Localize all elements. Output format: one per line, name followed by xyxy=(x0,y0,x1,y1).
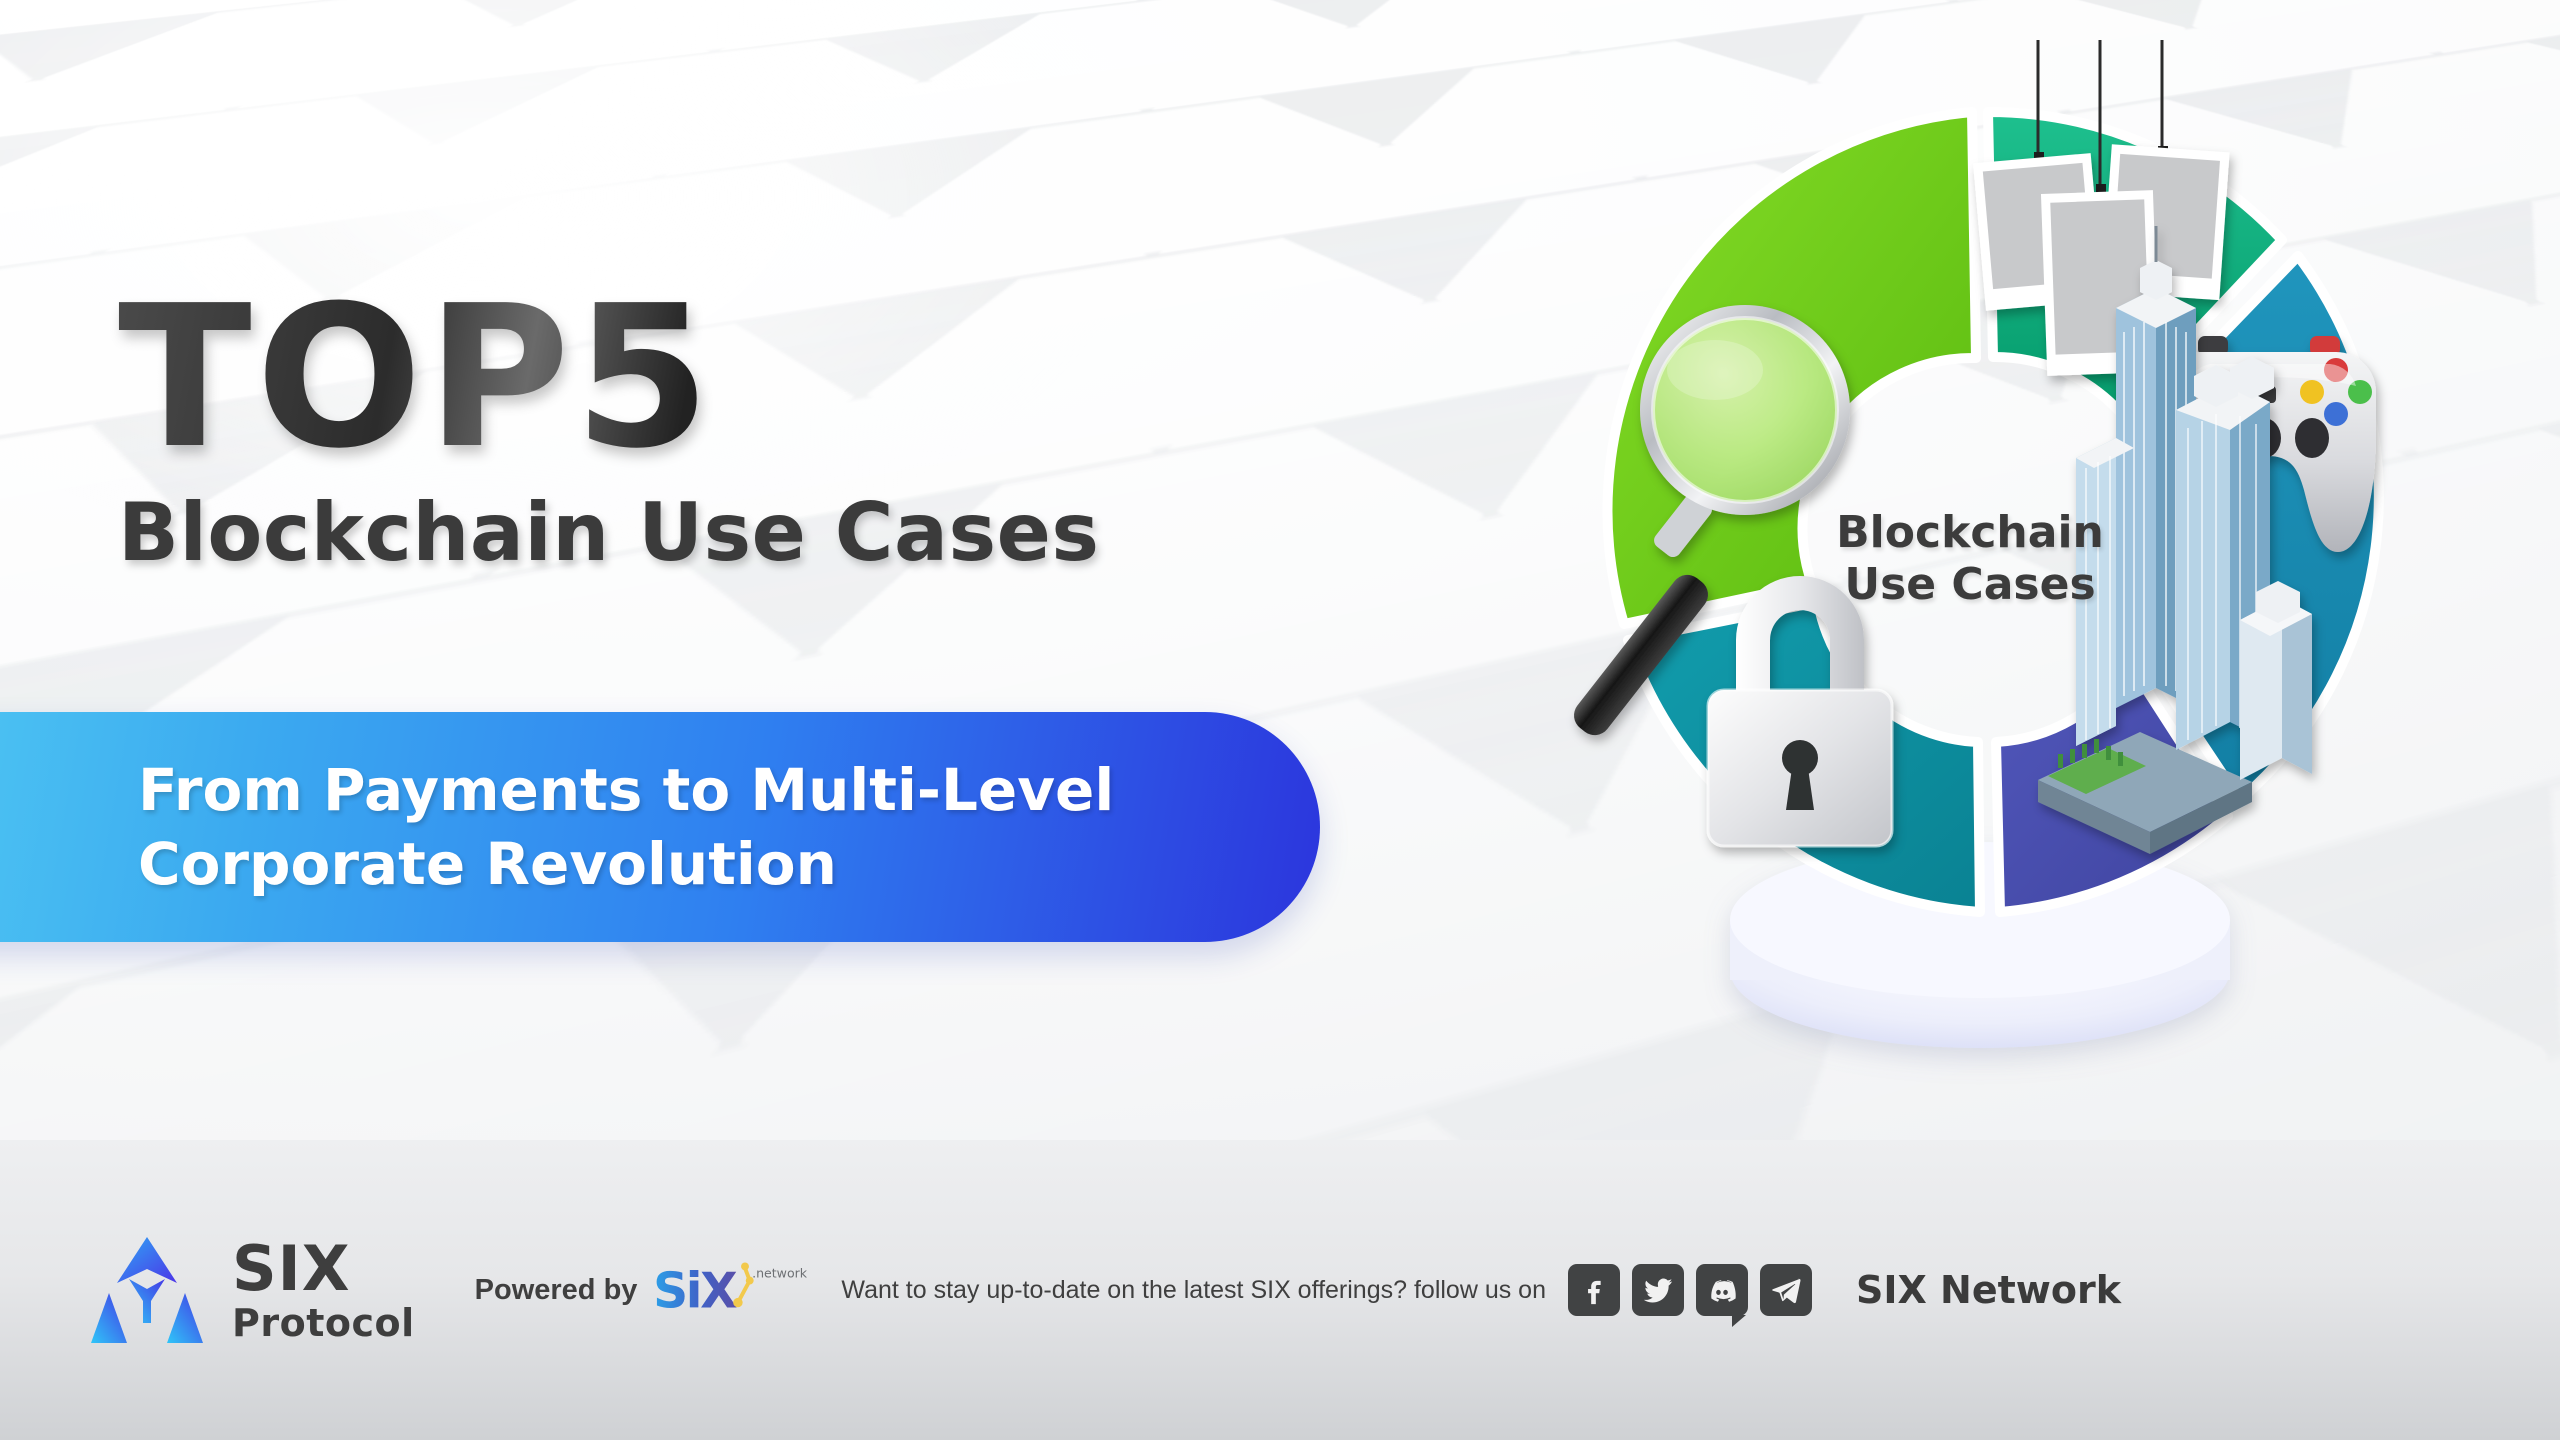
svg-text:SiX: SiX xyxy=(653,1263,737,1319)
six-protocol-brand: SIX Protocol xyxy=(86,1231,415,1349)
discord-link[interactable] xyxy=(1696,1264,1748,1316)
donut-center-label: Blockchain Use Cases xyxy=(1836,507,2104,611)
powered-by-block: Powered by SiX xyxy=(475,1257,772,1323)
banner-text: From Payments to Multi-Level Corporate R… xyxy=(138,753,1114,901)
social-links xyxy=(1568,1264,1812,1316)
six-protocol-logo-icon xyxy=(86,1231,208,1349)
hero-headline: TOP5 Blockchain Use Cases xyxy=(118,288,1099,579)
twitter-icon xyxy=(1641,1273,1675,1307)
follow-prompt-text: Want to stay up-to-date on the latest SI… xyxy=(841,1276,1546,1305)
hero-subtitle: Blockchain Use Cases xyxy=(118,486,1099,579)
donut-center-line-1: Blockchain xyxy=(1836,507,2104,559)
discord-icon xyxy=(1705,1273,1739,1307)
page-title: TOP5 xyxy=(118,288,1099,468)
facebook-icon xyxy=(1577,1273,1611,1307)
donut-center-line-2: Use Cases xyxy=(1836,559,2104,611)
brand-name: SIX xyxy=(232,1238,415,1300)
twitter-link[interactable] xyxy=(1632,1264,1684,1316)
six-network-logo-icon: SiX .network xyxy=(653,1257,771,1323)
telegram-link[interactable] xyxy=(1760,1264,1812,1316)
footer-bar: SIX Protocol Powered by SiX xyxy=(0,1140,2560,1440)
banner-line-1: From Payments to Multi-Level xyxy=(138,753,1114,827)
follow-block: Want to stay up-to-date on the latest SI… xyxy=(841,1264,2121,1316)
six-network-label: SIX Network xyxy=(1856,1268,2121,1312)
facebook-link[interactable] xyxy=(1568,1264,1620,1316)
brand-subname: Protocol xyxy=(232,1304,415,1342)
blockchain-use-cases-donut: Blockchain Use Cases xyxy=(1440,40,2500,1140)
svg-text:.network: .network xyxy=(752,1265,808,1280)
powered-by-label: Powered by xyxy=(475,1274,638,1307)
subtitle-banner: From Payments to Multi-Level Corporate R… xyxy=(0,712,1320,942)
poster-canvas: TOP5 Blockchain Use Cases From Payments … xyxy=(0,0,2560,1440)
telegram-icon xyxy=(1769,1273,1803,1307)
banner-line-2: Corporate Revolution xyxy=(138,827,1114,901)
